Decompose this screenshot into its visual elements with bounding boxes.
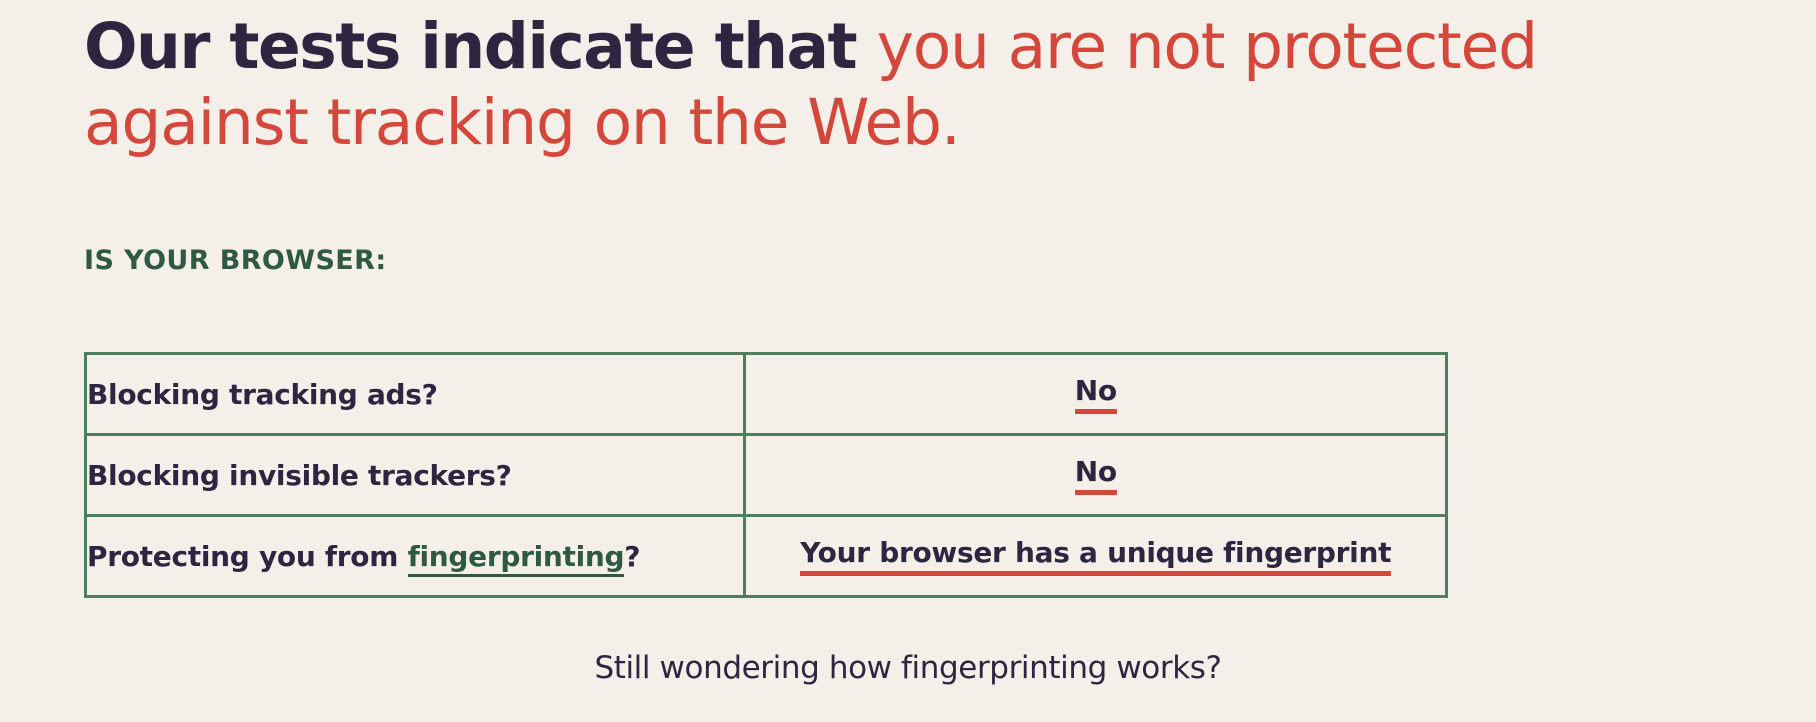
status-badge: No (1075, 376, 1117, 413)
question-text: Blocking invisible trackers? (87, 459, 512, 492)
question-cell-tracking-ads: Blocking tracking ads? (86, 354, 745, 435)
question-cell-invisible-trackers: Blocking invisible trackers? (86, 435, 745, 516)
status-badge: Your browser has a unique fingerprint (800, 538, 1391, 575)
headline-lead: Our tests indicate that (84, 10, 877, 83)
table-row: Blocking invisible trackers? No (86, 435, 1447, 516)
section-label-is-your-browser: Is your browser: (84, 245, 387, 276)
answer-cell-invisible-trackers: No (745, 435, 1447, 516)
answer-cell-tracking-ads: No (745, 354, 1447, 435)
browser-protection-results-table: Blocking tracking ads? No Blocking invis… (84, 352, 1448, 598)
page-title: Our tests indicate that you are not prot… (84, 8, 1774, 159)
question-cell-fingerprinting: Protecting you from fingerprinting? (86, 516, 745, 597)
fingerprinting-link[interactable]: fingerprinting (408, 540, 625, 577)
question-suffix: ? (624, 540, 640, 573)
footer-note-fingerprinting: Still wondering how fingerprinting works… (0, 650, 1816, 686)
question-text: Protecting you from (87, 540, 408, 573)
table-row: Protecting you from fingerprinting? Your… (86, 516, 1447, 597)
status-badge: No (1075, 457, 1117, 494)
table-row: Blocking tracking ads? No (86, 354, 1447, 435)
question-text: Blocking tracking ads? (87, 378, 438, 411)
results-page: Our tests indicate that you are not prot… (0, 0, 1816, 722)
answer-cell-fingerprinting: Your browser has a unique fingerprint (745, 516, 1447, 597)
